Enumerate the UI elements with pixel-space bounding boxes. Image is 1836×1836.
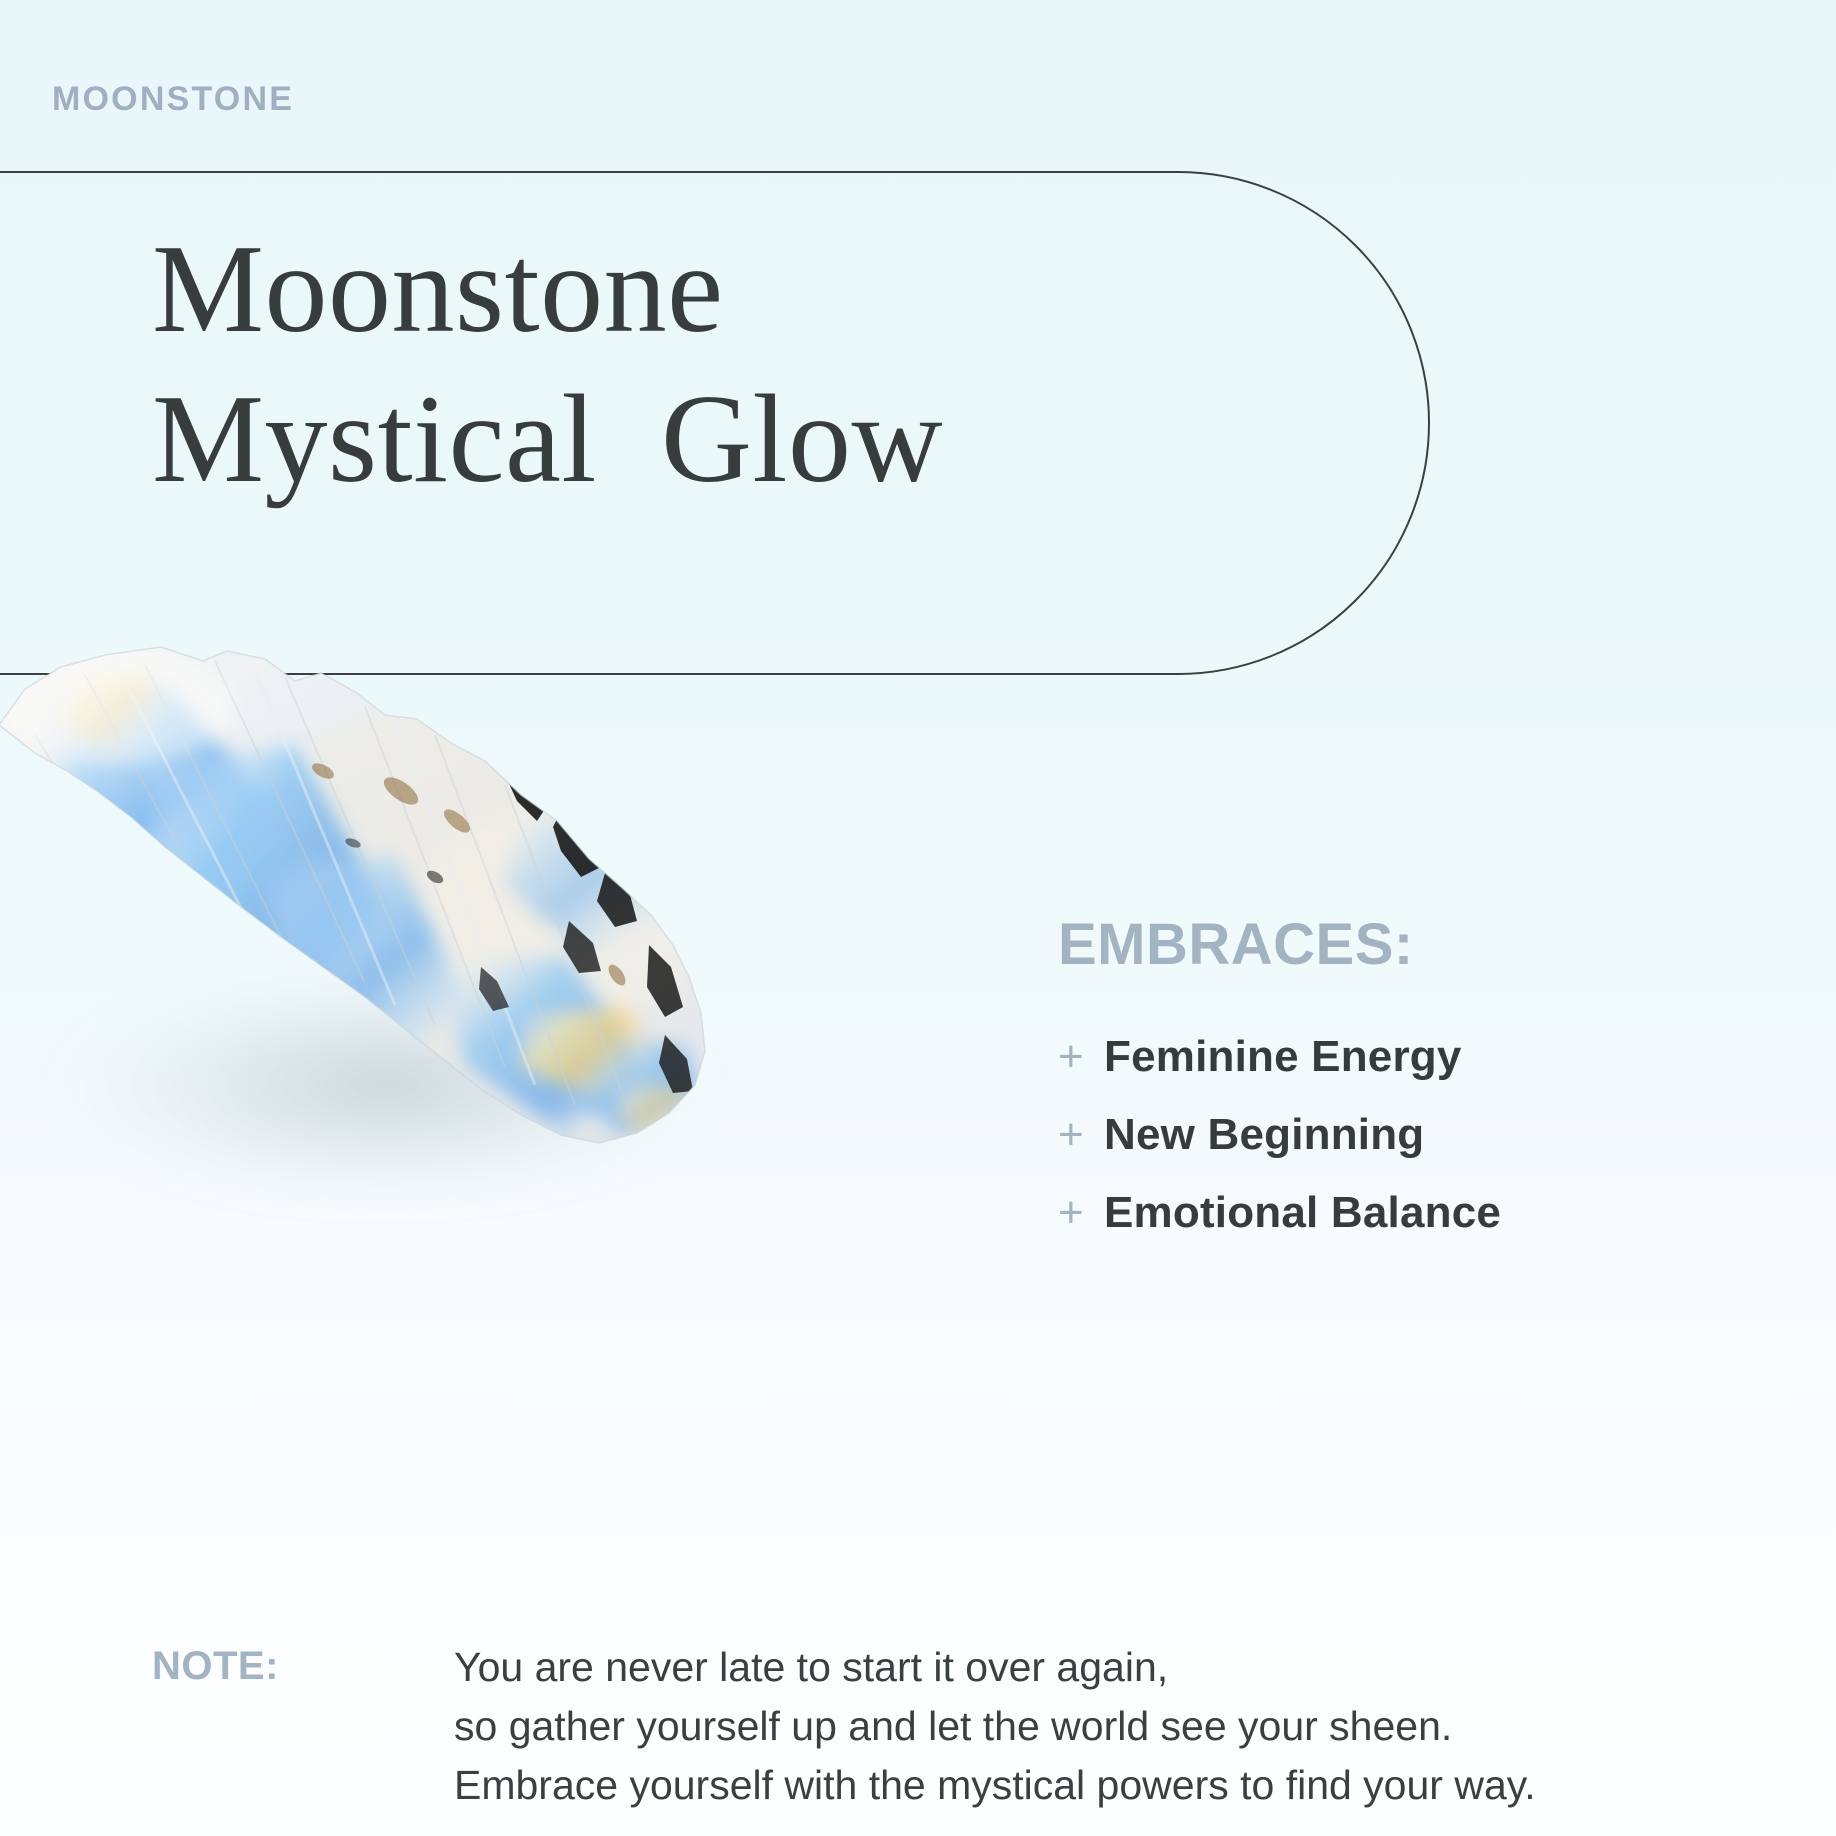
title-line-2: Mystical Glow	[152, 365, 1332, 515]
moonstone-crystal-image	[0, 615, 845, 1235]
embraces-heading: EMBRACES:	[1058, 916, 1758, 974]
eyebrow-label: MOONSTONE	[52, 82, 294, 116]
plus-icon: +	[1058, 1182, 1104, 1244]
note-label: NOTE:	[152, 1638, 454, 1694]
page-title: Moonstone Mystical Glow	[152, 215, 1332, 515]
note-line: You are never late to start it over agai…	[454, 1638, 1792, 1697]
embrace-label: Emotional Balance	[1104, 1182, 1501, 1244]
plus-icon: +	[1058, 1026, 1104, 1088]
embrace-label: New Beginning	[1104, 1104, 1424, 1166]
title-line-1: Moonstone	[152, 215, 1332, 365]
moonstone-poster: MOONSTONE Moonstone Mystical Glow	[0, 0, 1836, 1836]
note-body: You are never late to start it over agai…	[454, 1638, 1792, 1815]
note-line: Embrace yourself with the mystical power…	[454, 1756, 1792, 1815]
list-item: + Emotional Balance	[1058, 1182, 1758, 1244]
list-item: + Feminine Energy	[1058, 1026, 1758, 1088]
embrace-label: Feminine Energy	[1104, 1026, 1462, 1088]
note-line: so gather yourself up and let the world …	[454, 1697, 1792, 1756]
list-item: + New Beginning	[1058, 1104, 1758, 1166]
plus-icon: +	[1058, 1104, 1104, 1166]
note-section: NOTE: You are never late to start it ove…	[152, 1638, 1792, 1815]
moonstone-svg	[0, 615, 845, 1235]
embraces-section: EMBRACES: + Feminine Energy + New Beginn…	[1058, 916, 1758, 1260]
